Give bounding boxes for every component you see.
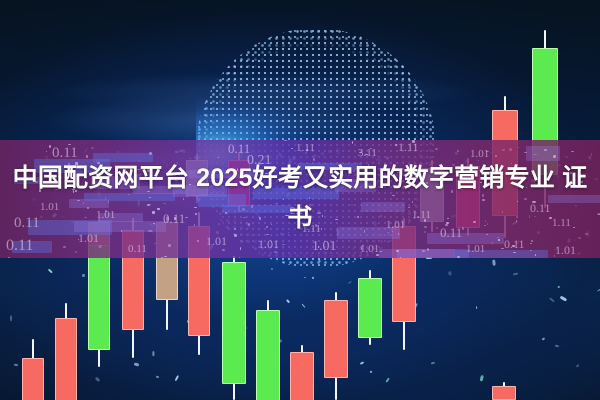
candlestick <box>22 339 44 400</box>
floating-number: 1.01 <box>258 238 279 250</box>
band-particle <box>91 147 94 149</box>
candlestick <box>55 303 77 400</box>
candle-body <box>256 310 280 400</box>
band-particle <box>281 258 282 259</box>
band-particle <box>495 155 497 156</box>
band-particle <box>524 152 527 153</box>
floating-number: 1.01 <box>555 244 576 256</box>
band-particle <box>422 250 425 252</box>
floating-number: 1.01 <box>466 244 485 255</box>
band-particle <box>197 240 199 242</box>
banner-image: 0.110.110.211.111.113.111.011.010.111.01… <box>0 0 600 400</box>
band-particle <box>240 247 241 250</box>
band-particle <box>457 150 459 152</box>
band-particle <box>222 249 225 251</box>
band-particle <box>530 243 532 245</box>
floating-number: 1.11 <box>398 141 419 153</box>
floating-number: 1.11 <box>296 143 315 154</box>
candlestick <box>222 256 246 400</box>
candle-body <box>324 300 348 378</box>
floating-number: 1.01 <box>360 244 379 255</box>
band-particle <box>533 154 537 156</box>
band-particle <box>531 240 533 242</box>
page-title: 中国配资网平台 2025好考又实用的数字营销专业 证书 <box>0 158 600 238</box>
band-particle <box>591 153 593 156</box>
candlestick <box>290 345 314 400</box>
headline-line-1: 中国配资网平台 2025好考又实用的数字营销专业 <box>13 164 555 192</box>
band-particle <box>161 257 163 259</box>
candlestick <box>324 292 348 400</box>
band-particle <box>8 257 10 258</box>
band-particle <box>49 145 52 148</box>
band-particle <box>571 151 574 152</box>
candle-body <box>222 262 246 384</box>
band-particle <box>498 239 500 241</box>
band-particle <box>75 251 78 253</box>
candlestick <box>358 270 382 345</box>
band-particle <box>435 148 438 150</box>
band-particle <box>380 251 382 252</box>
band-particle <box>149 152 152 155</box>
floating-number: 0.11 <box>6 238 33 254</box>
candle-body <box>55 318 77 400</box>
band-particle <box>291 148 294 149</box>
floating-number: 0.11 <box>504 238 525 250</box>
band-particle <box>352 141 353 144</box>
band-particle <box>99 245 102 248</box>
candlestick <box>256 300 280 400</box>
floating-number: 1.01 <box>312 240 337 254</box>
candle-body <box>358 278 382 338</box>
candle-body <box>290 352 314 400</box>
candle-body <box>492 386 516 400</box>
band-particle <box>457 256 460 259</box>
band-particle <box>168 244 172 247</box>
band-particle <box>502 149 505 151</box>
band-particle <box>284 140 287 141</box>
band-particle <box>239 257 240 258</box>
band-particle <box>154 243 156 244</box>
band-particle <box>518 147 519 148</box>
band-particle <box>509 148 512 150</box>
band-particle <box>63 246 66 248</box>
band-particle <box>274 251 277 254</box>
band-particle <box>400 257 401 258</box>
candlestick <box>492 382 516 400</box>
band-particle <box>46 151 47 152</box>
candle-body <box>22 358 44 400</box>
candle-body <box>88 245 110 350</box>
band-particle <box>282 244 285 246</box>
band-particle <box>513 252 516 254</box>
band-particle <box>395 144 397 146</box>
floating-number: 0.11 <box>128 244 147 255</box>
band-particle <box>164 256 166 257</box>
band-particle <box>175 151 177 153</box>
